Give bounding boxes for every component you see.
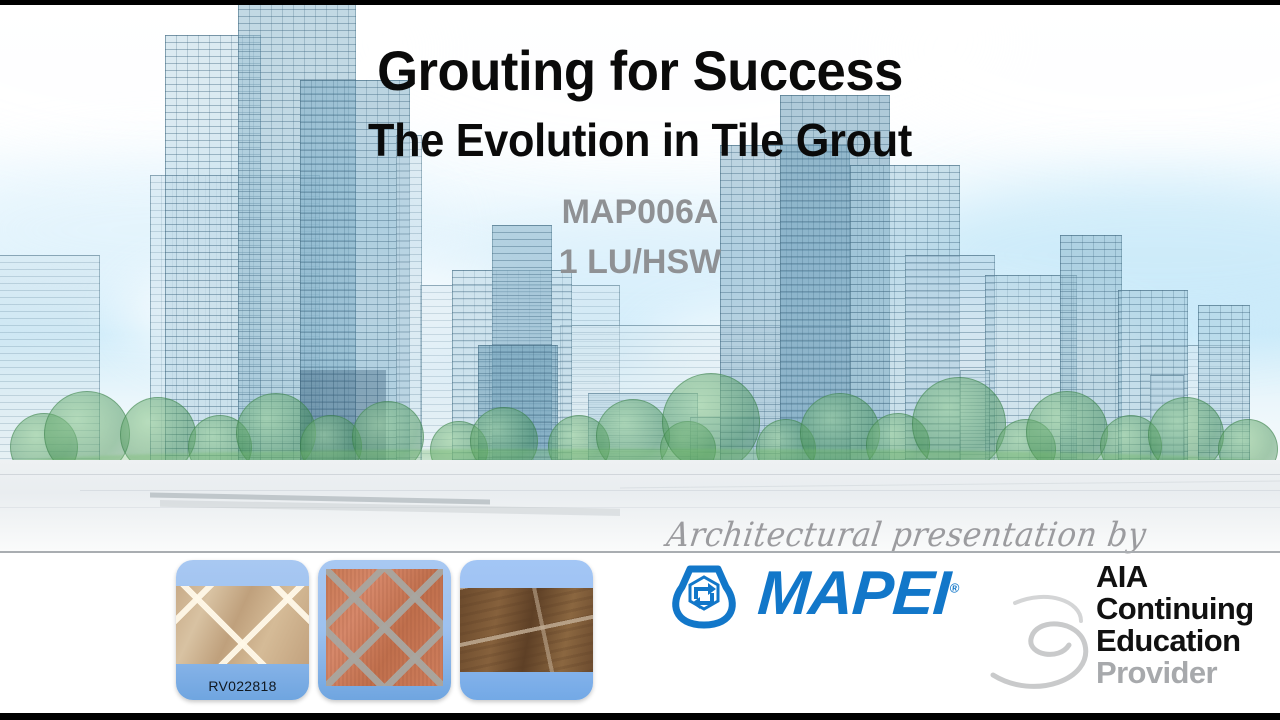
letterbox-bar-top (0, 0, 1280, 5)
footer-bar: RV022818 (0, 553, 1280, 713)
aia-provider-block: AIA Continuing Education Provider (1096, 561, 1254, 689)
tile-swatch-image (326, 569, 443, 686)
tile-thumbnail-group: RV022818 (176, 560, 593, 700)
swirl-decoration (985, 583, 1105, 703)
tile-swatch-image (176, 586, 309, 664)
aia-line-4: Provider (1096, 657, 1254, 688)
mapei-recycling-emblem-icon (664, 563, 744, 635)
mapei-wordmark: MAPEI® (756, 563, 960, 625)
cityscape-background (0, 5, 1280, 553)
tile-thumbnail-beige[interactable]: RV022818 (176, 560, 309, 700)
aia-line-1: AIA (1096, 561, 1254, 592)
script-credit-text: Architectural presentation by (664, 516, 1148, 555)
tile-thumbnail-caption: RV022818 (176, 678, 309, 694)
presentation-slide: Grouting for Success The Evolution in Ti… (0, 0, 1280, 720)
aia-line-3: Education (1096, 625, 1254, 656)
mapei-logo: MAPEI® (664, 563, 958, 635)
tile-thumbnail-terracotta[interactable] (318, 560, 451, 700)
section-divider (0, 551, 1280, 553)
registered-mark: ® (949, 580, 959, 595)
letterbox-bar-bottom (0, 713, 1280, 720)
mapei-wordmark-text: MAPEI (756, 559, 952, 628)
tile-thumbnail-wood[interactable] (460, 560, 593, 700)
tile-swatch-image (460, 588, 593, 672)
aia-line-2: Continuing (1096, 593, 1254, 624)
